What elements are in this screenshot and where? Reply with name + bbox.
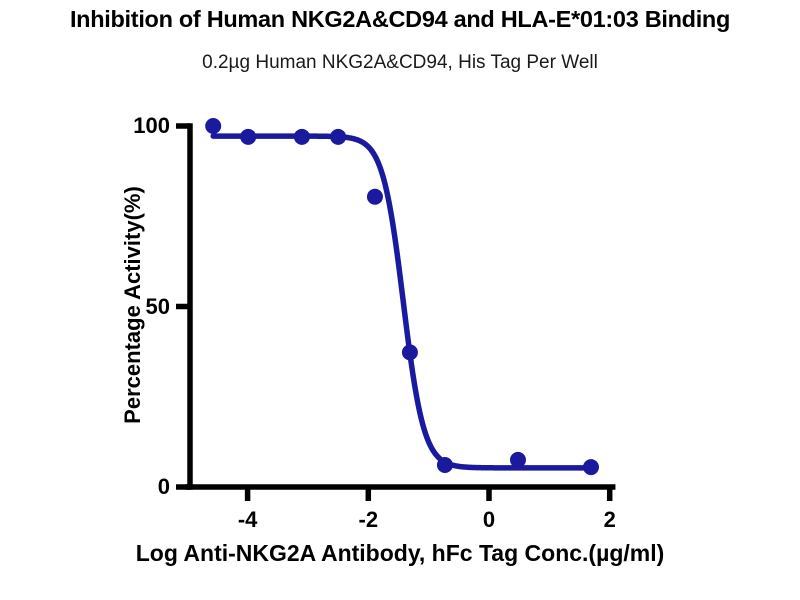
data-point-marker — [367, 189, 383, 205]
data-point-marker — [330, 129, 346, 145]
x-tick-label: -2 — [359, 507, 379, 533]
x-tick-label: 2 — [604, 507, 616, 533]
y-tick-label: 100 — [133, 113, 170, 139]
data-point-marker — [510, 452, 526, 468]
y-tick-label: 50 — [146, 294, 170, 320]
data-point-marker — [240, 129, 256, 145]
data-point-marker — [583, 459, 599, 475]
plot-area: 050100-4-202 — [0, 0, 800, 600]
y-tick-label: 0 — [158, 474, 170, 500]
x-tick-label: -4 — [238, 507, 258, 533]
data-point-marker — [294, 129, 310, 145]
fit-curve — [213, 136, 591, 468]
data-point-marker — [402, 344, 418, 360]
x-tick-label: 0 — [483, 507, 495, 533]
chart-figure: Inhibition of Human NKG2A&CD94 and HLA-E… — [0, 0, 800, 600]
data-point-marker — [437, 457, 453, 473]
data-point-marker — [205, 118, 221, 134]
plot-canvas — [0, 0, 800, 600]
